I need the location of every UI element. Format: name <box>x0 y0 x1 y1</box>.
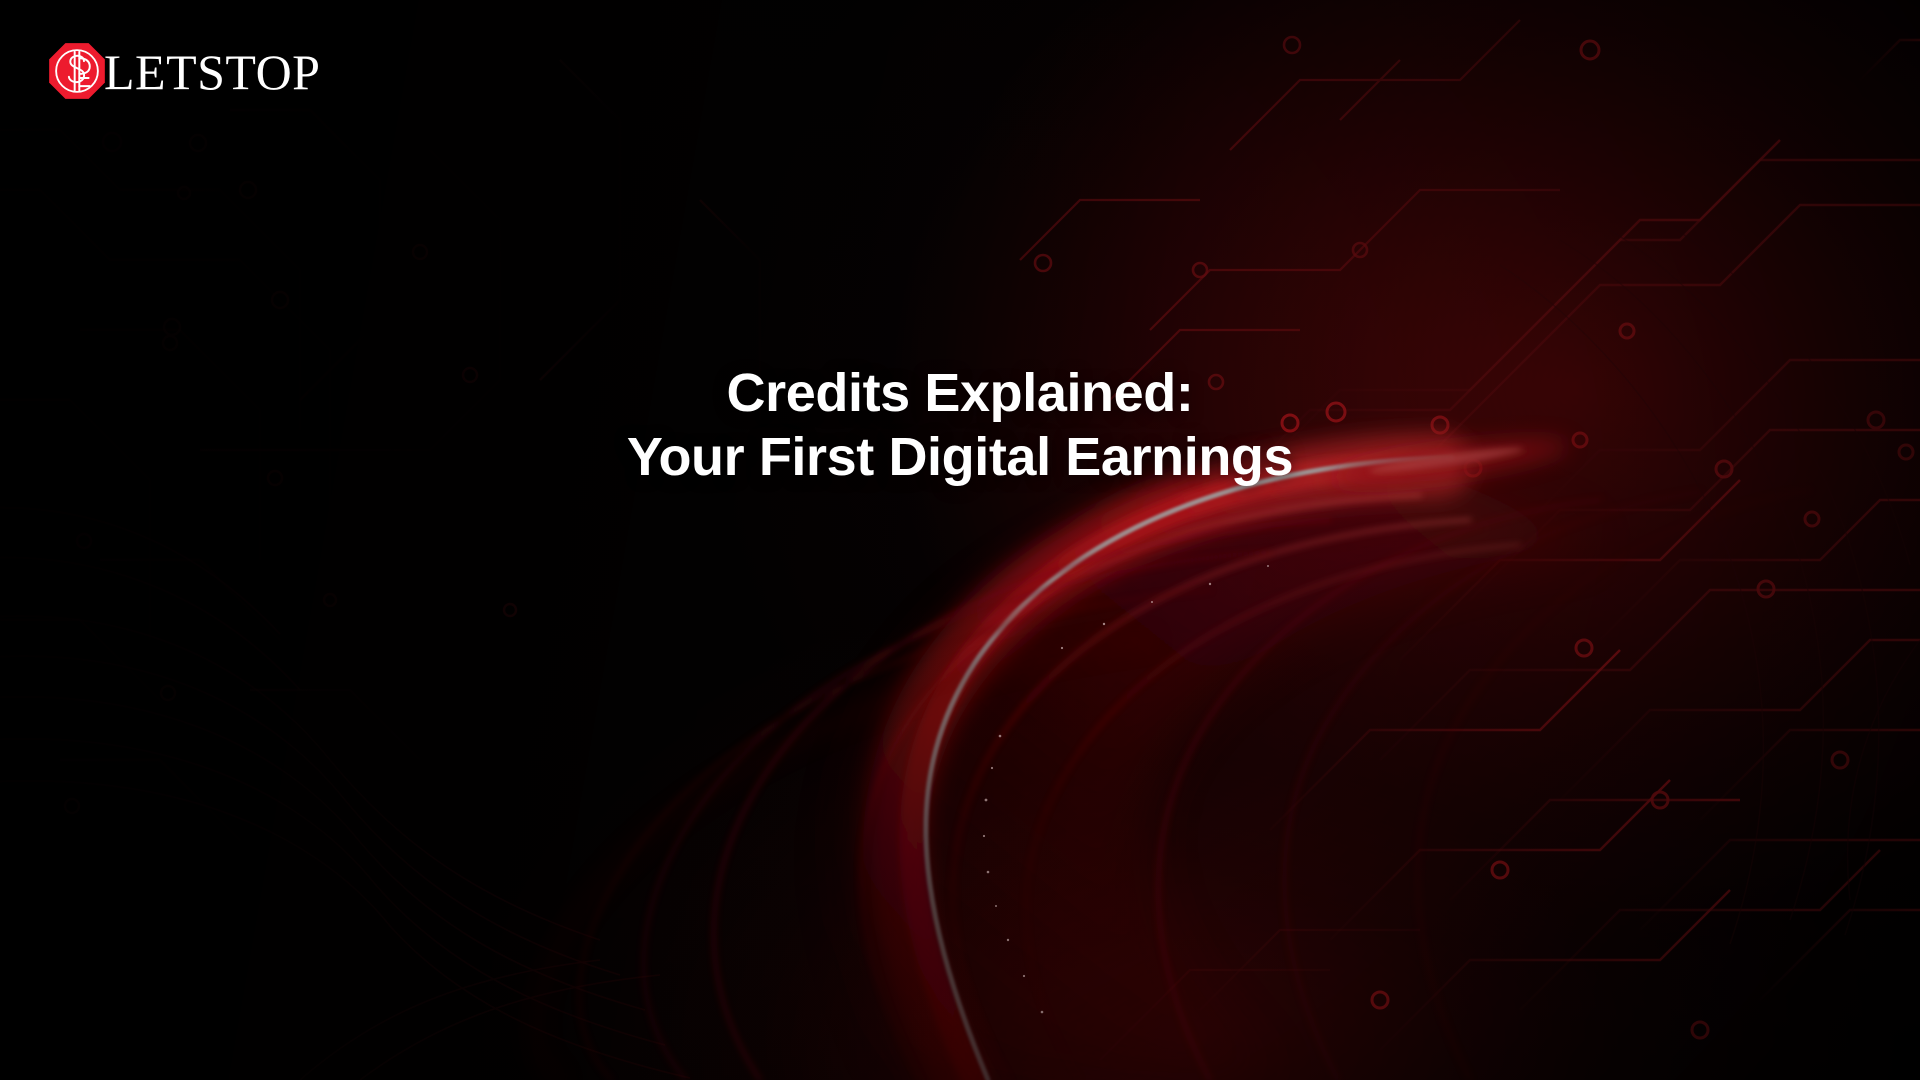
hero-banner: LETSTOP Credits Explained: Your First Di… <box>0 0 1920 1080</box>
brand-wordmark: LETSTOP <box>104 47 321 97</box>
page-title: Credits Explained: Your First Digital Ea… <box>0 362 1920 489</box>
brand-logo[interactable]: LETSTOP <box>48 42 321 100</box>
page-title-line-2: Your First Digital Earnings <box>80 426 1840 490</box>
letstop-octagon-monogram-icon <box>48 42 106 100</box>
red-light-trail-curve <box>0 0 1920 1080</box>
page-title-line-1: Credits Explained: <box>80 362 1840 426</box>
